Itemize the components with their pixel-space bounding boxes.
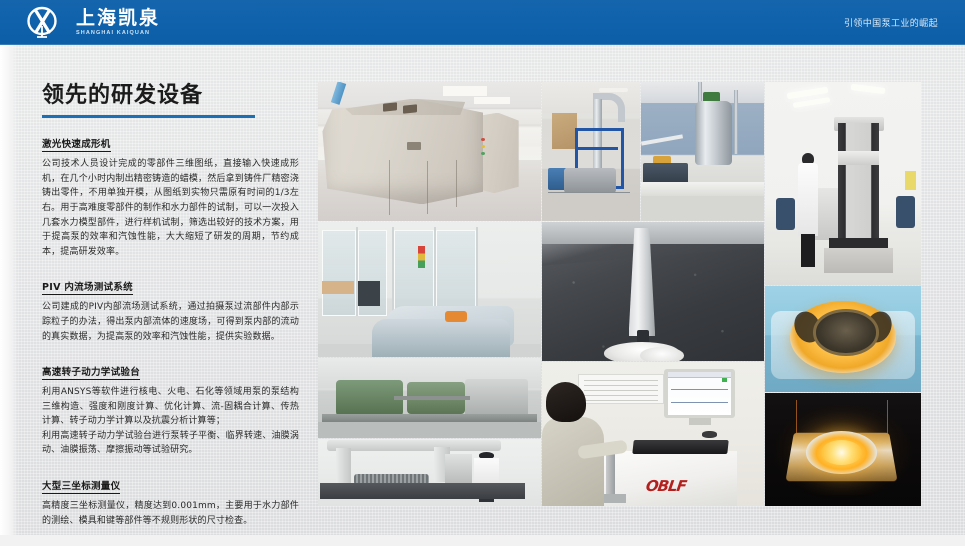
photo-rotor-dynamics-test-bed [318, 358, 541, 438]
kaiquan-logo-icon [26, 6, 68, 40]
section-heading: PIV 内流场测试系统 [42, 279, 133, 295]
photo-oblf-spectrometer-operator: OBLF [542, 362, 764, 506]
canvas-bottom-strip [0, 535, 965, 546]
section-rotor-dynamics-bench: 高速转子动力学试验台 利用ANSYS等软件进行核电、火电、石化等领域用泵的泵结构… [42, 360, 299, 458]
section-body: 高精度三坐标测量仪，精度达到0.001mm，主要用于水力部件的测绘、模具和键等部… [42, 499, 299, 528]
photo-cmm-measuring-shaft-assembly [318, 439, 541, 506]
header-tagline: 引领中国泵工业的崛起 [844, 16, 938, 29]
title-underline-rule [42, 115, 255, 118]
section-body: 公司建成的PIV内部流场测试系统，通过拍摄泵过流部件内部示踪粒子的办法，得出泵内… [42, 300, 299, 344]
photo-blue-frame-pump-test-rig [542, 82, 640, 221]
photo-collage: OBLF [318, 82, 921, 506]
photo-glass-partition-laboratory [318, 222, 541, 357]
text-column: 领先的研发设备 激光快速成形机 公司技术人员设计完成的零部件三维图纸，直接输入快… [42, 83, 299, 528]
photo-glowing-ring-mold-on-glass [765, 286, 921, 392]
page-title: 领先的研发设备 [42, 83, 299, 108]
photo-universal-testing-machine-lab [765, 82, 921, 285]
logo-text-cn: 上海凯泉 [76, 9, 160, 28]
logo-wordmark: 上海凯泉 SHANGHAI KAIQUAN [76, 9, 160, 37]
photo-cmm-probe-on-granite-table [542, 222, 764, 361]
presentation-slide: 上海凯泉 SHANGHAI KAIQUAN 引领中国泵工业的崛起 领先的研发设备… [0, 0, 965, 546]
photo-furnace-glowing-casting-mold [765, 393, 921, 506]
section-heading: 大型三坐标测量仪 [42, 478, 120, 494]
section-laser-rapid-prototyping: 激光快速成形机 公司技术人员设计完成的零部件三维图纸，直接输入快速成形机，在几个… [42, 132, 299, 259]
section-body: 公司技术人员设计完成的零部件三维图纸，直接输入快速成形机，在几个小时内制出精密铸… [42, 157, 299, 259]
canvas-left-gradient [0, 45, 18, 546]
oblf-brand-mark: OBLF [645, 477, 688, 495]
section-heading: 激光快速成形机 [42, 136, 111, 152]
photo-laser-rapid-prototyping-machines [318, 82, 541, 221]
section-cmm-measuring: 大型三坐标测量仪 高精度三坐标测量仪，精度达到0.001mm，主要用于水力部件的… [42, 474, 299, 528]
company-logo[interactable]: 上海凯泉 SHANGHAI KAIQUAN [26, 6, 160, 40]
photo-piv-laser-and-pressure-tank [641, 82, 764, 221]
section-body: 利用ANSYS等软件进行核电、火电、石化等领域用泵的泵结构三维构造、强度和刚度计… [42, 385, 299, 458]
section-piv-flow-test: PIV 内流场测试系统 公司建成的PIV内部流场测试系统，通过拍摄泵过流部件内部… [42, 275, 299, 344]
header-bar: 上海凯泉 SHANGHAI KAIQUAN 引领中国泵工业的崛起 [0, 0, 965, 45]
section-heading: 高速转子动力学试验台 [42, 364, 140, 380]
logo-text-en: SHANGHAI KAIQUAN [76, 31, 160, 37]
